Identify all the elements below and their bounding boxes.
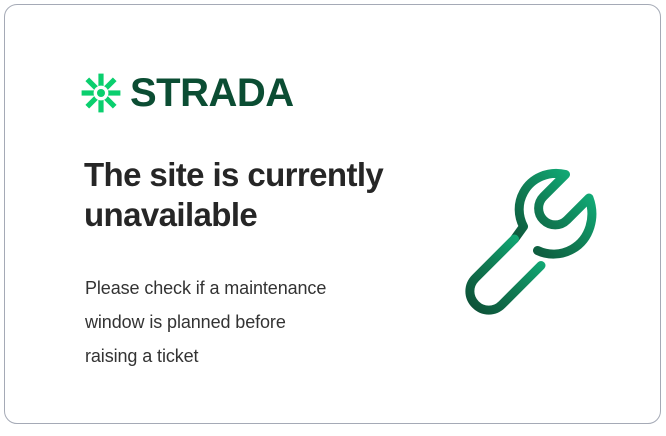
- brand-wordmark: STRADA: [130, 73, 294, 113]
- status-description: Please check if a maintenance window is …: [85, 271, 405, 373]
- status-description-line: raising a ticket: [85, 339, 405, 373]
- error-page: STRADA The site is currently unavailable…: [0, 0, 666, 436]
- strada-asterisk-icon: [81, 73, 121, 113]
- page-title: The site is currently unavailable: [84, 155, 424, 235]
- brand-logo: STRADA: [81, 73, 294, 113]
- status-card: STRADA The site is currently unavailable…: [4, 4, 661, 424]
- status-description-line: Please check if a maintenance: [85, 271, 405, 305]
- status-description-line: window is planned before: [85, 305, 405, 339]
- wrench-icon: [457, 157, 623, 323]
